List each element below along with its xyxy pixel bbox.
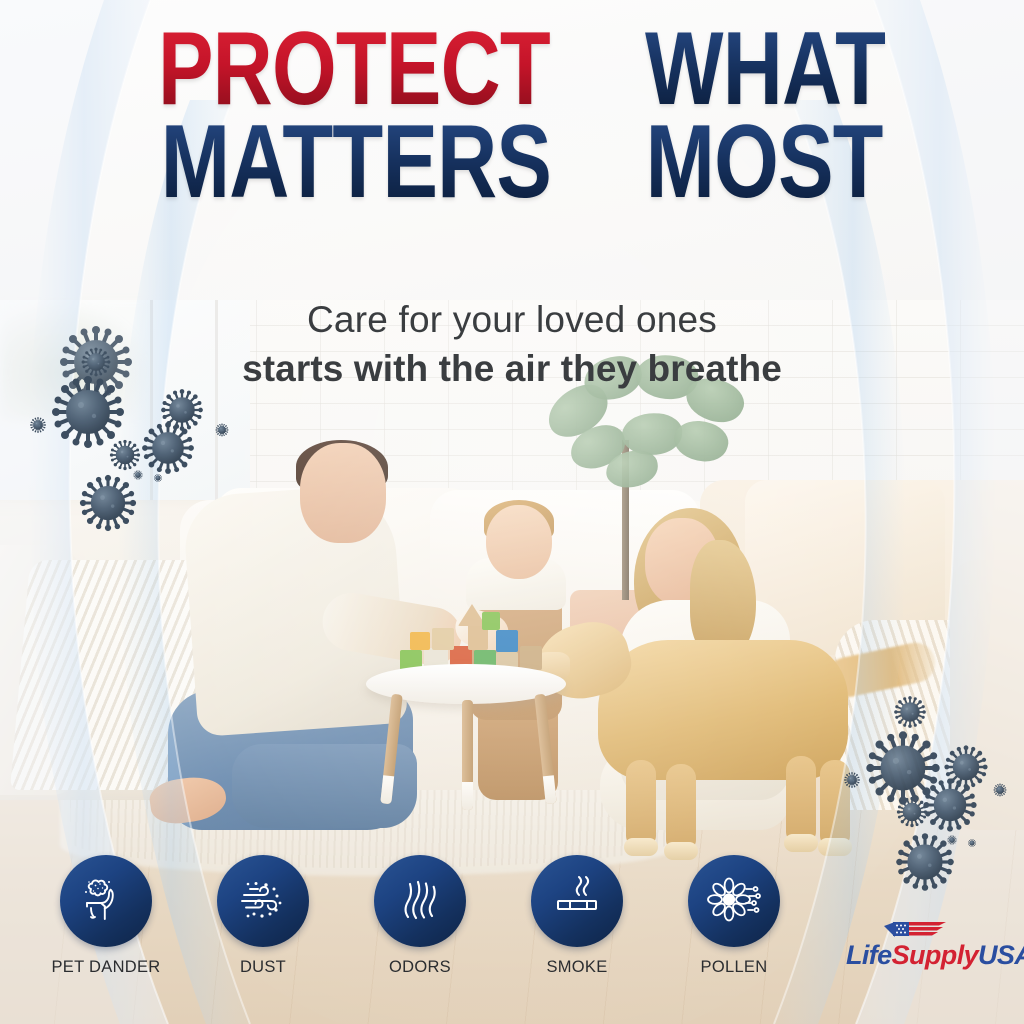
logo-part-supply: Supply bbox=[892, 940, 978, 970]
couch-arm bbox=[950, 560, 1024, 830]
dog-leg bbox=[820, 760, 850, 846]
toy-block bbox=[432, 628, 454, 650]
toy-block bbox=[496, 630, 518, 652]
brand-logo[interactable]: LifeSupplyUSA bbox=[846, 918, 1012, 980]
dog-dander-icon bbox=[77, 872, 135, 930]
badge-circle[interactable] bbox=[60, 855, 152, 947]
badge-circle[interactable] bbox=[688, 855, 780, 947]
toddler-head bbox=[486, 505, 552, 579]
father-head bbox=[300, 443, 386, 543]
badge-smoke[interactable]: SMOKE bbox=[511, 855, 643, 977]
badge-dust[interactable]: DUST bbox=[197, 855, 329, 977]
dog-leg bbox=[786, 756, 816, 842]
cigarette-smoke-icon bbox=[548, 872, 606, 930]
logo-part-life: Life bbox=[846, 940, 892, 970]
poster-canvas: PROTECTWHAT MATTERSMOST Care for your lo… bbox=[0, 0, 1024, 1024]
badge-circle[interactable] bbox=[217, 855, 309, 947]
badge-pet-dander[interactable]: PET DANDER bbox=[40, 855, 172, 977]
dog-leg bbox=[626, 760, 656, 846]
badge-label: DUST bbox=[240, 958, 286, 977]
badge-label: POLLEN bbox=[701, 958, 768, 977]
toy-block bbox=[482, 612, 500, 630]
headline-line-1: PROTECTWHAT bbox=[0, 26, 1024, 113]
headline-word-matters: MATTERS bbox=[161, 119, 551, 206]
headline-word-what: WHAT bbox=[645, 26, 885, 113]
badge-odors[interactable]: ODORS bbox=[354, 855, 486, 977]
subheadline-line-2: starts with the air they breathe bbox=[0, 345, 1024, 394]
badge-circle[interactable] bbox=[531, 855, 623, 947]
subheadline-line-1: Care for your loved ones bbox=[0, 296, 1024, 345]
badge-label: PET DANDER bbox=[51, 958, 160, 977]
headline-word-protect: PROTECT bbox=[158, 26, 550, 113]
logo-wordmark: LifeSupplyUSA bbox=[846, 940, 1012, 971]
headline: PROTECTWHAT MATTERSMOST bbox=[0, 26, 1024, 207]
filter-benefit-badges: PET DANDER bbox=[40, 855, 800, 995]
toy-block bbox=[410, 632, 430, 650]
table-leg bbox=[462, 700, 473, 810]
dust-wind-icon bbox=[234, 872, 292, 930]
odor-wisps-icon bbox=[391, 872, 449, 930]
dog-leg bbox=[666, 764, 696, 850]
dog-paw bbox=[784, 834, 818, 852]
dog-paw bbox=[818, 838, 852, 856]
headline-word-most: MOST bbox=[645, 119, 882, 206]
logo-part-usa: USA bbox=[978, 940, 1024, 970]
subheadline: Care for your loved ones starts with the… bbox=[0, 296, 1024, 394]
headline-line-2: MATTERSMOST bbox=[0, 119, 1024, 206]
badge-label: SMOKE bbox=[546, 958, 607, 977]
toy-block bbox=[520, 646, 542, 670]
badge-circle[interactable] bbox=[374, 855, 466, 947]
pollen-flower-icon bbox=[705, 872, 763, 930]
badge-pollen[interactable]: POLLEN bbox=[668, 855, 800, 977]
dog-paw bbox=[624, 838, 658, 856]
badge-label: ODORS bbox=[389, 958, 451, 977]
